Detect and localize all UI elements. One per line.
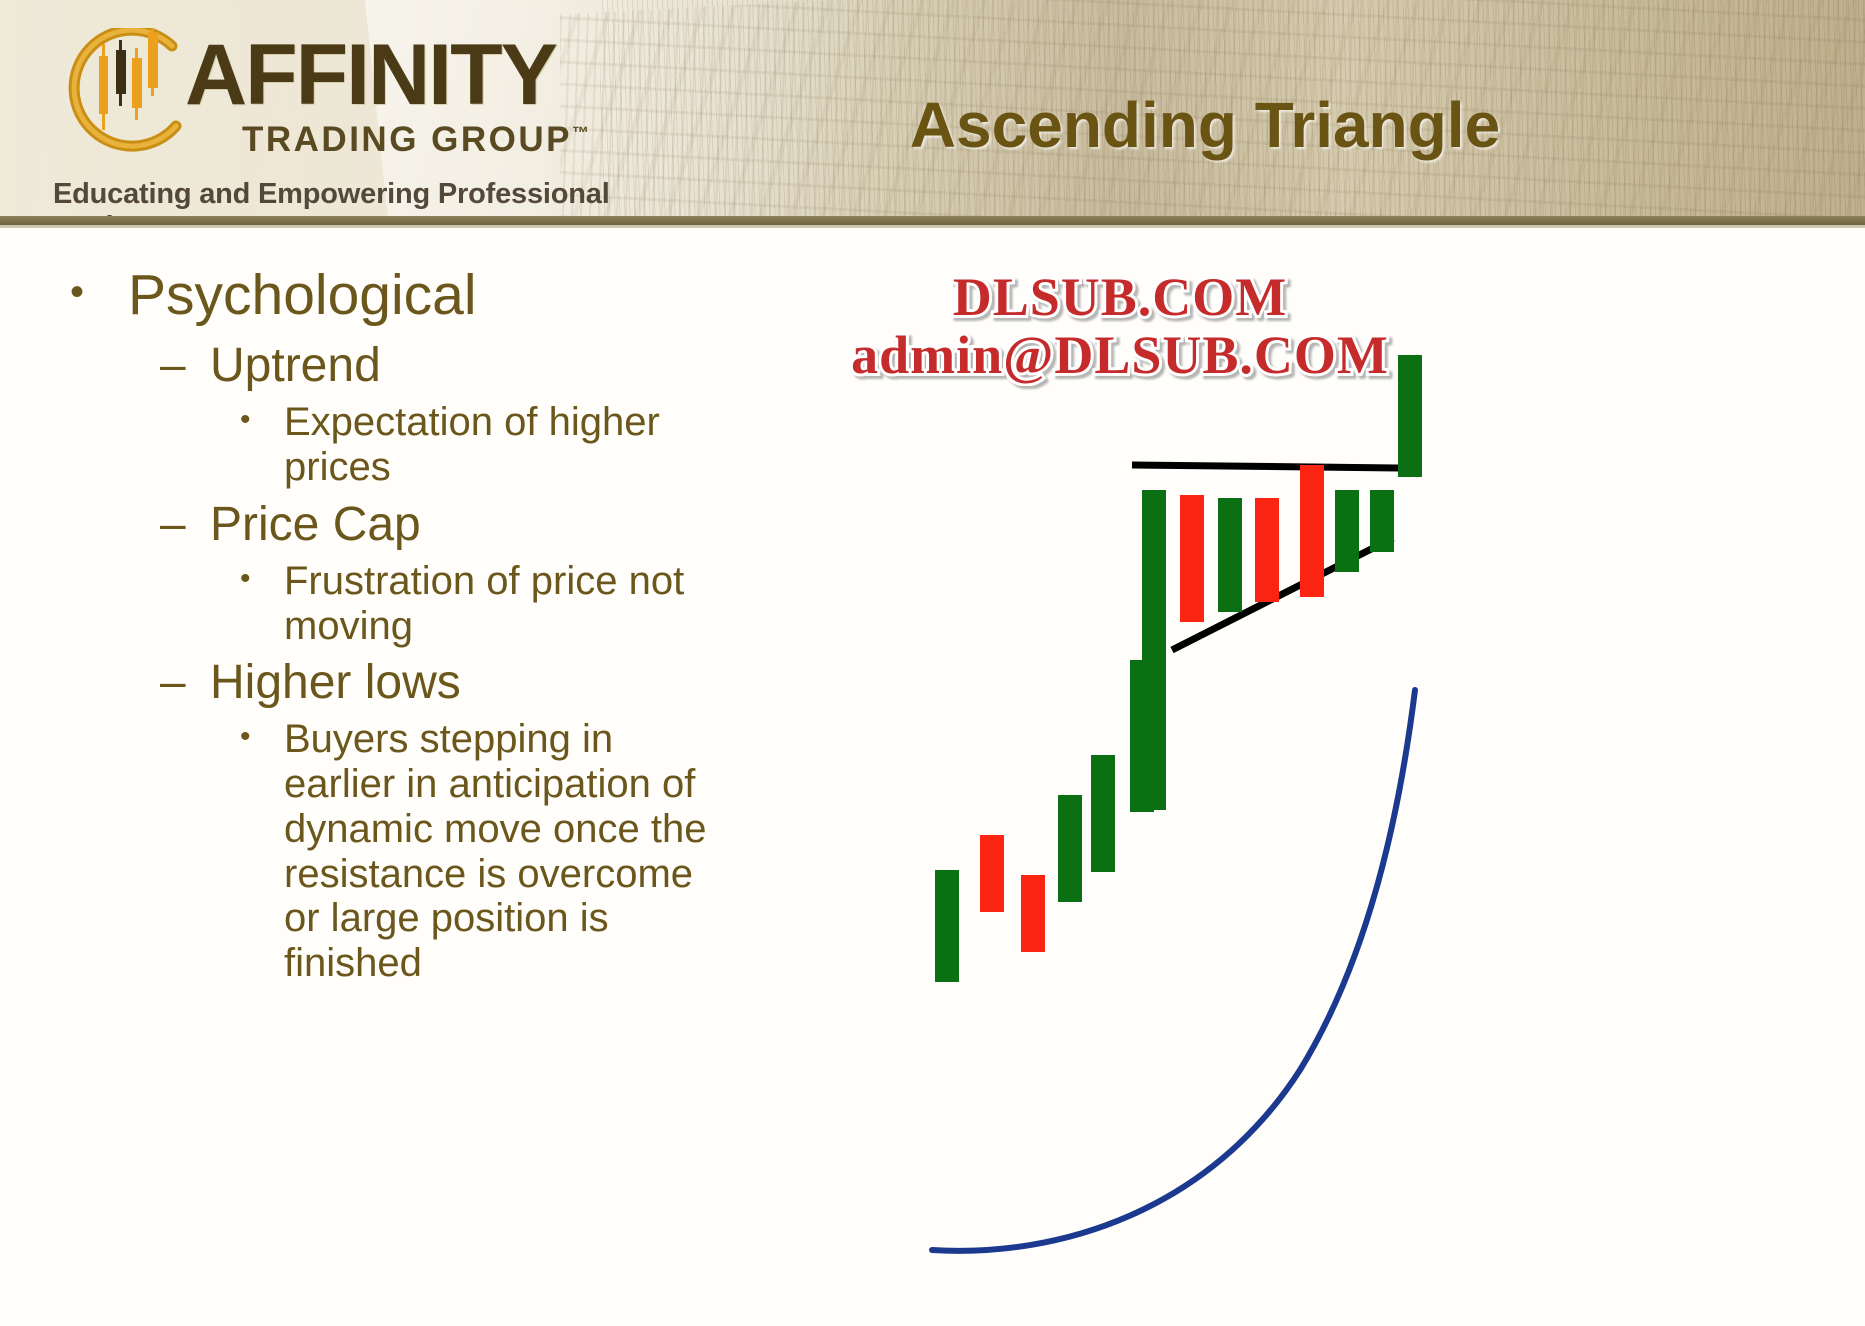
- list-item: – Uptrend: [70, 341, 810, 392]
- support-line: [1172, 538, 1393, 650]
- list-item: • Psychological: [70, 265, 810, 325]
- candle-8-down: [1180, 495, 1204, 622]
- list-item-label: Buyers stepping in earlier in anticipati…: [284, 717, 734, 986]
- list-item-label: Frustration of price not moving: [284, 559, 734, 649]
- bullet-dash-icon: –: [160, 658, 210, 709]
- candle-11-down: [1300, 465, 1324, 597]
- moving-average-trendline: [932, 690, 1415, 1251]
- trademark-icon: ™: [572, 123, 589, 142]
- candle-14-up: [1398, 355, 1422, 477]
- slide-header: AFFINITY TRADING GROUP™ Educating and Em…: [0, 0, 1865, 222]
- candle-9-up: [1218, 498, 1242, 612]
- chart-lines-layer: [880, 250, 1840, 1310]
- list-item: – Price Cap: [70, 500, 810, 551]
- candle-1-up: [935, 870, 959, 982]
- logo-wordmark: AFFINITY: [185, 32, 556, 118]
- list-item-label: Uptrend: [210, 341, 381, 392]
- candle-7-up: [1142, 490, 1166, 810]
- list-item-label: Expectation of higher prices: [284, 400, 734, 490]
- candlestick-chart: [880, 250, 1840, 1310]
- header-divider: [0, 216, 1865, 225]
- list-item-label: Psychological: [128, 265, 477, 325]
- candlestick-circle-logo-icon: [60, 28, 195, 158]
- bullet-dot-icon: •: [240, 559, 284, 649]
- bullet-dot-icon: •: [240, 400, 284, 490]
- resistance-line: [1132, 465, 1400, 468]
- candle-5-up: [1091, 755, 1115, 872]
- candle-10-down: [1255, 498, 1279, 602]
- bullet-list: • Psychological – Uptrend • Expectation …: [70, 265, 810, 996]
- list-item: – Higher lows: [70, 658, 810, 709]
- list-item: • Frustration of price not moving: [70, 559, 810, 649]
- brand-logo: AFFINITY TRADING GROUP™ Educating and Em…: [45, 18, 665, 203]
- list-item: • Expectation of higher prices: [70, 400, 810, 490]
- list-item: • Buyers stepping in earlier in anticipa…: [70, 717, 810, 986]
- candle-2-down: [980, 835, 1004, 912]
- list-item-label: Higher lows: [210, 658, 461, 709]
- logo-subwordmark-text: TRADING GROUP: [242, 120, 572, 159]
- header-divider-light: [0, 225, 1865, 228]
- list-item-label: Price Cap: [210, 500, 421, 551]
- candle-13-up: [1370, 490, 1394, 552]
- page-title: Ascending Triangle: [780, 88, 1630, 162]
- candle-3-down: [1021, 875, 1045, 952]
- candle-12-up: [1335, 490, 1359, 572]
- bullet-dash-icon: –: [160, 500, 210, 551]
- bullet-dash-icon: –: [160, 341, 210, 392]
- slide-canvas: AFFINITY TRADING GROUP™ Educating and Em…: [0, 0, 1865, 1326]
- bullet-dot-icon: •: [70, 265, 128, 325]
- bullet-dot-icon: •: [240, 717, 284, 986]
- logo-subwordmark: TRADING GROUP™: [242, 122, 589, 157]
- candle-4-up: [1058, 795, 1082, 902]
